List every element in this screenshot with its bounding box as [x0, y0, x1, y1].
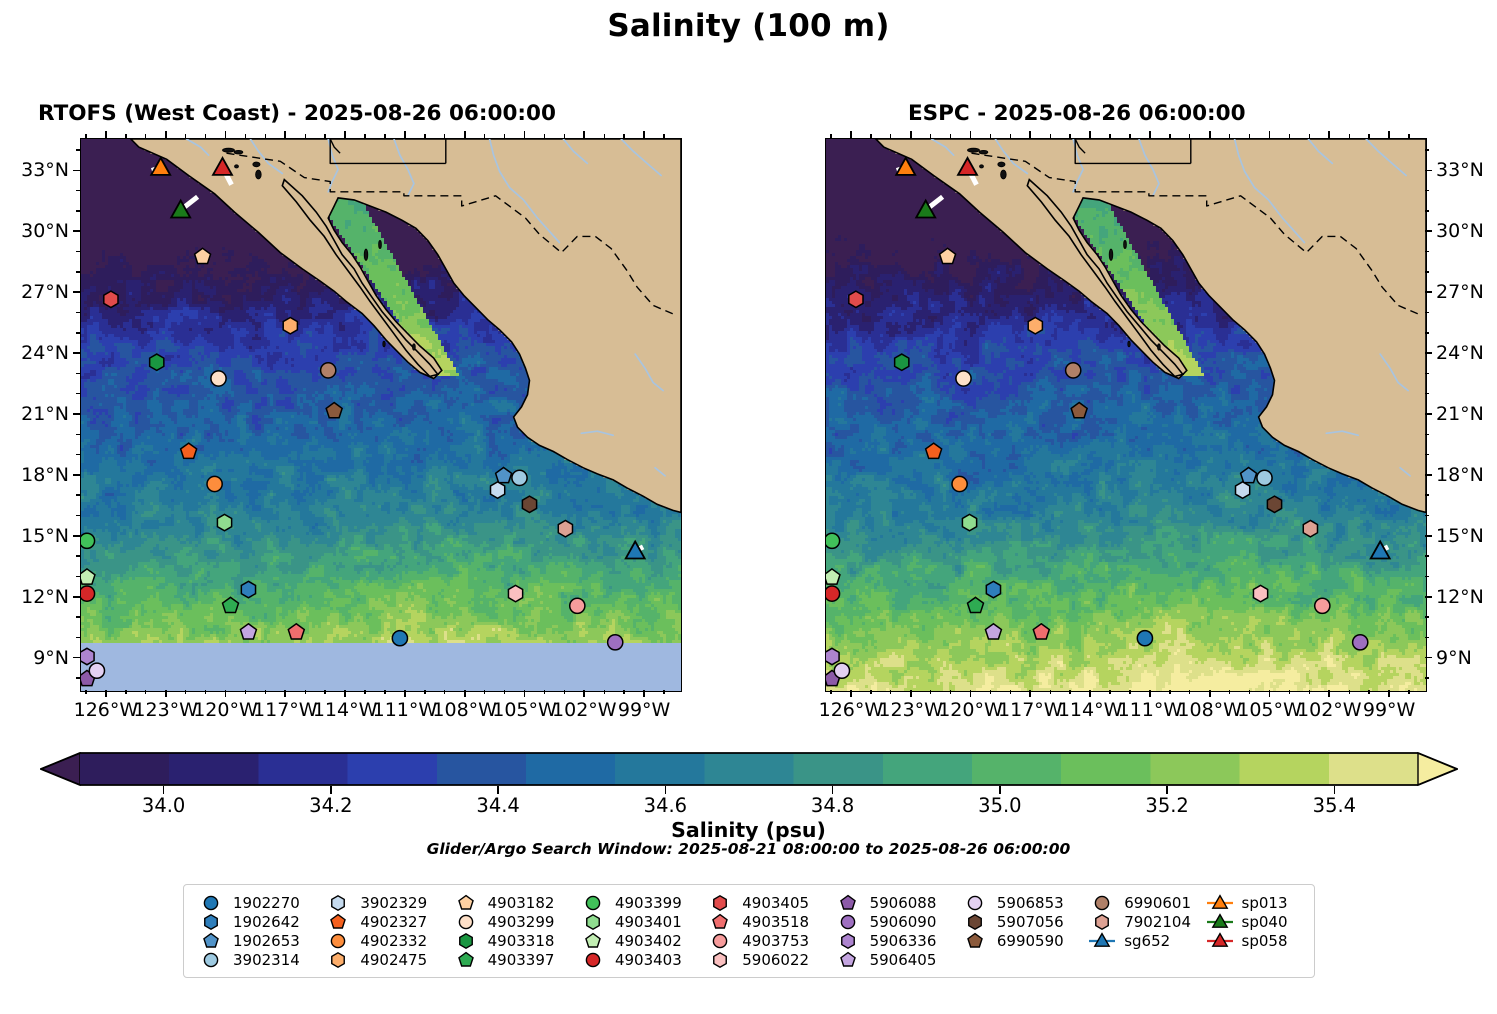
x-minor-tick: [1129, 134, 1130, 138]
x-tick: [464, 690, 466, 697]
legend-marker-glider-icon: [1205, 894, 1235, 912]
legend-label: 5906853: [997, 894, 1064, 912]
y-tick: [73, 170, 80, 172]
x-minor-tick: [364, 134, 365, 138]
x-minor-tick: [324, 134, 325, 138]
x-minor-tick: [305, 134, 306, 138]
legend-label: 4903753: [742, 932, 809, 950]
legend-marker-pentagon-icon: [960, 932, 990, 950]
y-minor-tick: [1425, 251, 1429, 252]
colorbar-tick: [1166, 786, 1168, 794]
x-tick-label: 117°W: [253, 699, 318, 721]
x-minor-tick: [1010, 690, 1011, 694]
x-minor-tick: [544, 690, 545, 694]
legend-label: sg652: [1124, 932, 1170, 950]
colorbar[interactable]: [40, 752, 1458, 786]
y-tick-label: 27°N: [1436, 281, 1484, 303]
legend-item[interactable]: 5906088: [833, 893, 960, 912]
x-minor-tick: [444, 690, 445, 694]
colorbar-tick: [163, 786, 165, 794]
argo-marker[interactable]: [241, 581, 255, 597]
x-minor-tick: [890, 690, 891, 694]
legend-label: 4902327: [360, 913, 427, 931]
x-minor-tick: [930, 134, 931, 138]
y-tick-label: 15°N: [21, 525, 69, 547]
legend-column: 4903399490340149034024903403: [578, 893, 705, 969]
x-tick: [643, 690, 645, 697]
panel-title-rtofs: RTOFS (West Coast) - 2025-08-26 06:00:00: [38, 101, 556, 126]
x-minor-tick: [185, 134, 186, 138]
x-tick: [910, 131, 912, 138]
legend-item[interactable]: 4903318: [451, 931, 578, 950]
x-minor-tick: [1109, 134, 1110, 138]
y-minor-tick: [76, 434, 80, 435]
legend-item[interactable]: 1902270: [196, 893, 323, 912]
y-minor-tick: [76, 149, 80, 150]
legend-marker-hexagon-icon: [196, 913, 226, 931]
x-tick: [1149, 131, 1151, 138]
x-minor-tick: [1069, 690, 1070, 694]
colorbar-tick-label: 34.4: [476, 794, 519, 817]
y-minor-tick: [76, 616, 80, 617]
legend-marker-circle-icon: [833, 913, 863, 931]
argo-marker[interactable]: [321, 363, 336, 378]
legend-item[interactable]: 3902329: [323, 893, 450, 912]
y-tick-label: 18°N: [21, 464, 69, 486]
legend-item[interactable]: 4903399: [578, 893, 705, 912]
map-raster: [826, 139, 1426, 691]
legend-label: 6990601: [1124, 894, 1191, 912]
legend-item[interactable]: 3902314: [196, 950, 323, 969]
legend-marker-hexagon-icon: [705, 894, 735, 912]
legend-item[interactable]: sp013: [1205, 893, 1304, 912]
argo-marker[interactable]: [558, 520, 572, 536]
x-tick: [1089, 131, 1091, 138]
legend-label: sp013: [1242, 894, 1288, 912]
argo-marker[interactable]: [81, 533, 95, 548]
legend-marker-glider-icon: [1087, 932, 1117, 950]
argo-marker[interactable]: [608, 635, 623, 650]
y-tick: [73, 230, 80, 232]
x-minor-tick: [504, 134, 505, 138]
y-tick: [1425, 596, 1432, 598]
x-minor-tick: [85, 134, 86, 138]
y-minor-tick: [76, 271, 80, 272]
x-tick: [1209, 131, 1211, 138]
x-minor-tick: [305, 690, 306, 694]
argo-marker[interactable]: [104, 291, 118, 307]
x-tick-label: 102°W: [1297, 699, 1362, 721]
x-minor-tick: [1169, 134, 1170, 138]
x-minor-tick: [1408, 134, 1409, 138]
x-tick: [1269, 690, 1271, 697]
legend-label: 5906336: [870, 932, 937, 950]
legend-column: 1902270190264219026533902314: [196, 893, 323, 969]
legend-item[interactable]: 7902104: [1087, 912, 1204, 931]
argo-marker[interactable]: [89, 663, 104, 678]
x-minor-tick: [623, 690, 624, 694]
x-minor-tick: [1349, 134, 1350, 138]
x-tick: [850, 131, 852, 138]
x-tick: [165, 690, 167, 697]
x-tick: [970, 690, 972, 697]
legend-label: 4903405: [742, 894, 809, 912]
map-panel-espc[interactable]: [825, 138, 1427, 692]
x-tick: [583, 131, 585, 138]
legend-label: 6990590: [997, 932, 1064, 950]
x-minor-tick: [384, 690, 385, 694]
y-minor-tick: [76, 515, 80, 516]
x-minor-tick: [663, 134, 664, 138]
legend-label: 1902270: [233, 894, 300, 912]
y-minor-tick: [76, 637, 80, 638]
y-minor-tick: [1425, 312, 1429, 313]
map-raster: [81, 139, 681, 691]
x-tick: [105, 131, 107, 138]
x-minor-tick: [663, 690, 664, 694]
search-window-note: Glider/Argo Search Window: 2025-08-21 08…: [0, 840, 1497, 858]
legend-marker-pentagon-icon: [451, 951, 481, 969]
legend-item[interactable]: 4903402: [578, 931, 705, 950]
y-minor-tick: [76, 677, 80, 678]
argo-marker[interactable]: [217, 514, 231, 530]
legend-item[interactable]: 4903299: [451, 912, 578, 931]
legend-item[interactable]: 4903405: [705, 893, 832, 912]
x-minor-tick: [930, 690, 931, 694]
legend-marker-pentagon-icon: [578, 932, 608, 950]
x-minor-tick: [125, 134, 126, 138]
x-tick-label: 111°W: [1118, 699, 1183, 721]
x-tick: [1388, 690, 1390, 697]
argo-marker[interactable]: [283, 318, 297, 334]
x-minor-tick: [890, 134, 891, 138]
argo-marker[interactable]: [512, 470, 527, 485]
legend-marker-glider-icon: [1205, 913, 1235, 931]
legend-item[interactable]: 5906853: [960, 893, 1087, 912]
x-minor-tick: [830, 690, 831, 694]
argo-marker[interactable]: [895, 354, 909, 370]
y-minor-tick: [1425, 373, 1429, 374]
x-tick-label: 114°W: [1058, 699, 1123, 721]
colorbar-tick-label: 35.0: [978, 794, 1021, 817]
legend-item[interactable]: 4903401: [578, 912, 705, 931]
y-minor-tick: [1425, 637, 1429, 638]
x-minor-tick: [185, 690, 186, 694]
legend-column: 69906017902104sg652: [1087, 893, 1204, 969]
y-tick-label: 24°N: [21, 342, 69, 364]
y-tick-label: 30°N: [1436, 220, 1484, 242]
legend-label: 4903182: [488, 894, 555, 912]
y-minor-tick: [76, 332, 80, 333]
argo-marker[interactable]: [956, 371, 971, 386]
y-tick: [73, 474, 80, 476]
x-minor-tick: [990, 134, 991, 138]
legend-label: 1902642: [233, 913, 300, 931]
y-minor-tick: [76, 454, 80, 455]
legend-item[interactable]: 4903403: [578, 950, 705, 969]
x-minor-tick: [604, 690, 605, 694]
legend-marker-circle-icon: [323, 932, 353, 950]
legend-label: 4903518: [742, 913, 809, 931]
legend-item[interactable]: 5906022: [705, 950, 832, 969]
argo-marker[interactable]: [1257, 470, 1272, 485]
y-tick-label: 33°N: [21, 159, 69, 181]
legend-column: 590685359070566990590: [960, 893, 1087, 969]
argo-marker[interactable]: [150, 354, 164, 370]
legend-label: 4902475: [360, 951, 427, 969]
argo-marker[interactable]: [522, 496, 536, 512]
y-tick-label: 15°N: [1436, 525, 1484, 547]
y-tick: [1425, 230, 1432, 232]
legend-item[interactable]: 1902642: [196, 912, 323, 931]
x-minor-tick: [1309, 134, 1310, 138]
x-minor-tick: [564, 690, 565, 694]
legend-marker-circle-icon: [578, 951, 608, 969]
x-tick-label: 123°W: [133, 699, 198, 721]
x-minor-tick: [604, 134, 605, 138]
x-minor-tick: [870, 690, 871, 694]
argo-marker[interactable]: [952, 476, 967, 491]
x-tick-label: 120°W: [938, 699, 1003, 721]
argo-marker[interactable]: [81, 586, 95, 601]
y-minor-tick: [1425, 149, 1429, 150]
x-minor-tick: [125, 690, 126, 694]
legend-item[interactable]: 4903518: [705, 912, 832, 931]
legend-item[interactable]: 4903397: [451, 950, 578, 969]
x-tick: [643, 131, 645, 138]
argo-marker[interactable]: [1028, 318, 1042, 334]
figure-title: Salinity (100 m): [0, 8, 1497, 44]
legend-item[interactable]: 5907056: [960, 912, 1087, 931]
legend-item[interactable]: 4903753: [705, 931, 832, 950]
colorbar-tick-label: 34.8: [811, 794, 854, 817]
argo-marker[interactable]: [491, 482, 505, 498]
x-tick: [583, 690, 585, 697]
x-tick-label: 99°W: [1363, 699, 1415, 721]
x-tick-label: 102°W: [552, 699, 617, 721]
argo-marker[interactable]: [826, 533, 840, 548]
legend-label: 7902104: [1124, 913, 1191, 931]
y-minor-tick: [1425, 555, 1429, 556]
x-minor-tick: [324, 690, 325, 694]
argo-marker[interactable]: [1353, 635, 1368, 650]
map-panel-rtofs[interactable]: [80, 138, 682, 692]
y-minor-tick: [76, 210, 80, 211]
y-tick: [1425, 657, 1432, 659]
legend-marker-hexagon-icon: [323, 894, 353, 912]
y-minor-tick: [1425, 515, 1429, 516]
y-minor-tick: [76, 251, 80, 252]
x-tick: [404, 690, 406, 697]
legend-marker-hexagon-icon: [323, 951, 353, 969]
x-tick: [1029, 131, 1031, 138]
legend-marker-pentagon-icon: [833, 951, 863, 969]
colorbar-tick-label: 34.0: [142, 794, 185, 817]
legend-item[interactable]: 5906090: [833, 912, 960, 931]
x-tick: [284, 690, 286, 697]
x-tick: [1089, 690, 1091, 697]
legend-marker-circle-icon: [196, 894, 226, 912]
marker-legend[interactable]: 1902270190264219026533902314390232949023…: [183, 884, 1315, 978]
x-minor-tick: [85, 690, 86, 694]
x-minor-tick: [1189, 134, 1190, 138]
argo-marker[interactable]: [508, 585, 522, 601]
x-tick: [1388, 131, 1390, 138]
y-tick-label: 9°N: [1436, 647, 1472, 669]
x-tick-label: 126°W: [74, 699, 139, 721]
x-tick: [225, 690, 227, 697]
x-tick: [105, 690, 107, 697]
x-tick: [1149, 690, 1151, 697]
x-tick: [464, 131, 466, 138]
y-tick: [73, 596, 80, 598]
colorbar-tick: [665, 786, 667, 794]
colorbar-title: Salinity (psu): [0, 818, 1497, 842]
argo-marker[interactable]: [392, 631, 407, 646]
colorbar-tick-label: 34.2: [309, 794, 352, 817]
legend-item[interactable]: 4902475: [323, 950, 450, 969]
argo-marker[interactable]: [962, 514, 976, 530]
x-minor-tick: [830, 134, 831, 138]
legend-label: 4903402: [615, 932, 682, 950]
x-minor-tick: [1249, 134, 1250, 138]
x-minor-tick: [544, 134, 545, 138]
x-minor-tick: [564, 134, 565, 138]
legend-item[interactable]: 4902327: [323, 912, 450, 931]
legend-marker-pentagon-icon: [196, 932, 226, 950]
x-tick: [850, 690, 852, 697]
argo-marker[interactable]: [1315, 598, 1330, 613]
legend-label: 3902329: [360, 894, 427, 912]
x-tick-label: 117°W: [998, 699, 1063, 721]
x-minor-tick: [444, 134, 445, 138]
argo-marker[interactable]: [826, 648, 839, 664]
x-minor-tick: [1249, 690, 1250, 694]
x-minor-tick: [484, 134, 485, 138]
panel-title-espc: ESPC - 2025-08-26 06:00:00: [908, 101, 1246, 126]
legend-item[interactable]: 4902332: [323, 931, 450, 950]
legend-item[interactable]: sp040: [1205, 912, 1304, 931]
x-minor-tick: [1229, 134, 1230, 138]
y-tick-label: 27°N: [21, 281, 69, 303]
legend-item[interactable]: 6990590: [960, 931, 1087, 950]
legend-item[interactable]: 1902653: [196, 931, 323, 950]
x-tick: [1029, 690, 1031, 697]
argo-marker[interactable]: [834, 663, 849, 678]
x-tick-label: 114°W: [313, 699, 378, 721]
legend-marker-glider-icon: [1205, 932, 1235, 950]
argo-marker[interactable]: [826, 586, 840, 601]
x-minor-tick: [424, 690, 425, 694]
legend-column: sp013sp040sp058: [1205, 893, 1304, 969]
y-tick: [73, 413, 80, 415]
x-tick: [225, 131, 227, 138]
y-tick: [1425, 291, 1432, 293]
legend-label: 4903401: [615, 913, 682, 931]
legend-item[interactable]: 4903182: [451, 893, 578, 912]
argo-marker[interactable]: [81, 648, 94, 664]
x-minor-tick: [1229, 690, 1230, 694]
x-minor-tick: [1010, 134, 1011, 138]
argo-marker[interactable]: [1236, 482, 1250, 498]
argo-marker[interactable]: [1267, 496, 1281, 512]
legend-label: 4903318: [488, 932, 555, 950]
y-minor-tick: [1425, 677, 1429, 678]
argo-marker[interactable]: [211, 371, 226, 386]
colorbar-tick: [1334, 786, 1336, 794]
legend-item[interactable]: sp058: [1205, 931, 1304, 950]
y-minor-tick: [1425, 393, 1429, 394]
legend-item[interactable]: 6990601: [1087, 893, 1204, 912]
y-minor-tick: [1425, 210, 1429, 211]
x-minor-tick: [265, 134, 266, 138]
y-tick: [1425, 413, 1432, 415]
legend-marker-circle-icon: [1087, 894, 1117, 912]
legend-label: 5906090: [870, 913, 937, 931]
argo-marker[interactable]: [986, 581, 1000, 597]
argo-marker[interactable]: [207, 476, 222, 491]
x-minor-tick: [1169, 690, 1170, 694]
y-minor-tick: [1425, 434, 1429, 435]
x-tick-label: 126°W: [819, 699, 884, 721]
legend-label: sp040: [1242, 913, 1288, 931]
x-minor-tick: [364, 690, 365, 694]
legend-label: 5906088: [870, 894, 937, 912]
x-minor-tick: [145, 134, 146, 138]
x-minor-tick: [950, 134, 951, 138]
legend-marker-hexagon-icon: [1087, 913, 1117, 931]
legend-marker-hexagon-icon: [833, 932, 863, 950]
legend-item[interactable]: sg652: [1087, 931, 1204, 950]
legend-label: 4903403: [615, 951, 682, 969]
x-minor-tick: [1289, 690, 1290, 694]
argo-marker[interactable]: [1137, 631, 1152, 646]
x-minor-tick: [245, 690, 246, 694]
x-minor-tick: [1309, 690, 1310, 694]
colorbar-tick: [330, 786, 332, 794]
legend-item[interactable]: 5906405: [833, 950, 960, 969]
y-tick-label: 30°N: [21, 220, 69, 242]
argo-marker[interactable]: [849, 291, 863, 307]
y-tick-label: 33°N: [1436, 159, 1484, 181]
y-tick: [73, 535, 80, 537]
y-tick: [73, 291, 80, 293]
x-minor-tick: [1069, 134, 1070, 138]
x-tick-label: 105°W: [1237, 699, 1302, 721]
x-tick: [165, 131, 167, 138]
argo-marker[interactable]: [1253, 585, 1267, 601]
legend-label: 4902332: [360, 932, 427, 950]
legend-column: 5906088590609059063365906405: [833, 893, 960, 969]
argo-marker[interactable]: [1066, 363, 1081, 378]
y-tick-label: 24°N: [1436, 342, 1484, 364]
argo-marker[interactable]: [1303, 520, 1317, 536]
legend-item[interactable]: 5906336: [833, 931, 960, 950]
x-minor-tick: [1408, 690, 1409, 694]
y-minor-tick: [1425, 494, 1429, 495]
y-minor-tick: [1425, 332, 1429, 333]
x-tick: [910, 690, 912, 697]
x-tick: [1328, 690, 1330, 697]
x-minor-tick: [1289, 134, 1290, 138]
x-tick: [344, 690, 346, 697]
y-tick-label: 9°N: [33, 647, 69, 669]
x-tick-label: 111°W: [373, 699, 438, 721]
x-minor-tick: [424, 134, 425, 138]
legend-label: 5906022: [742, 951, 809, 969]
legend-column: 4903405490351849037535906022: [705, 893, 832, 969]
argo-marker[interactable]: [570, 598, 585, 613]
